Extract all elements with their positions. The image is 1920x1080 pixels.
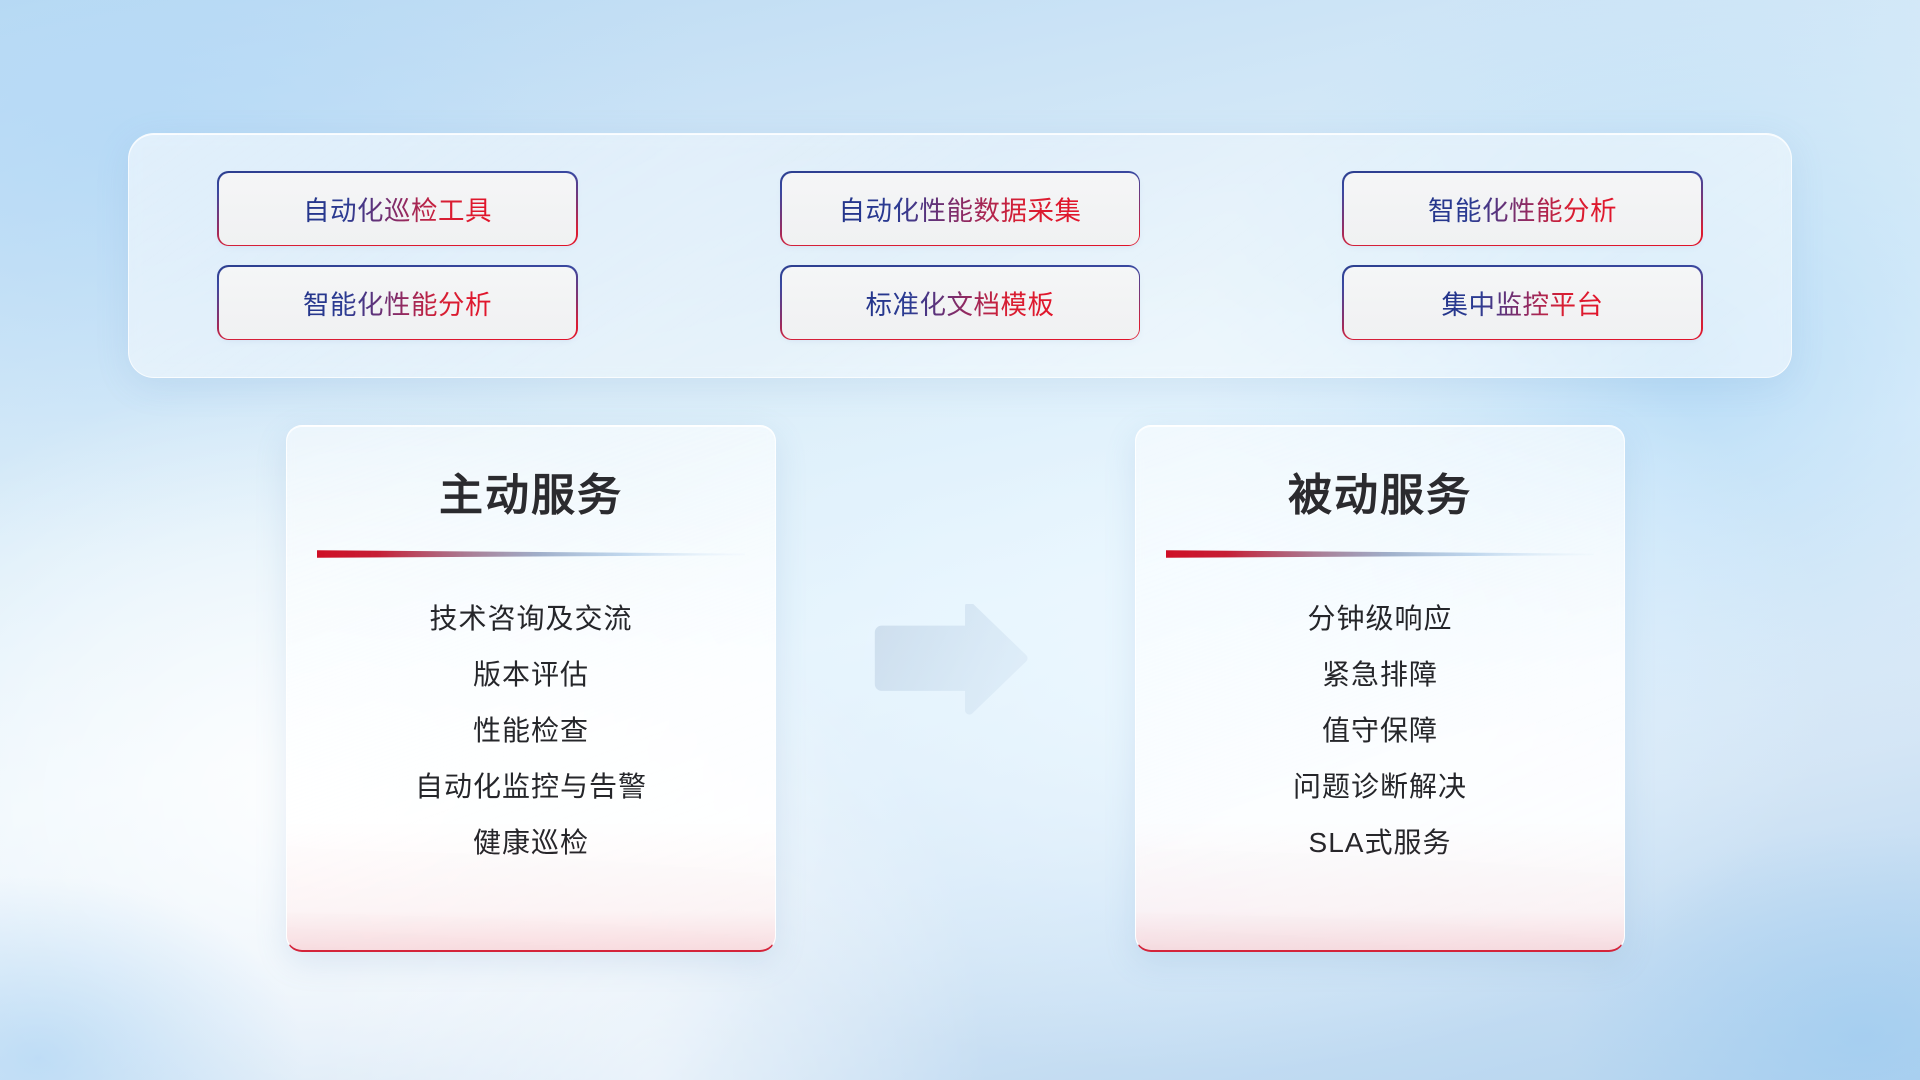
tag-label: 集中监控平台: [1442, 283, 1604, 322]
list-item: 值守保障: [1136, 703, 1624, 759]
tag-label: 自动化巡检工具: [303, 189, 492, 228]
list-item: SLA式服务: [1136, 815, 1624, 871]
tag-intelligent-performance-analysis-bottom[interactable]: 智能化性能分析: [219, 267, 576, 339]
card-divider-reactive: [1166, 549, 1594, 559]
list-item: 紧急排障: [1136, 647, 1624, 703]
diagram-stage: 自动化巡检工具 自动化性能数据采集 智能化性能分析 智能化性能分析 标准化文档模…: [0, 0, 1920, 1080]
card-title-proactive: 主动服务: [287, 459, 775, 523]
tag-standardized-document-template[interactable]: 标准化文档模板: [782, 267, 1139, 339]
arrow-right-icon: [869, 604, 1034, 724]
card-title-reactive: 被动服务: [1136, 459, 1624, 523]
service-card-reactive: 被动服务 分钟级响应 紧急排障 值守保障: [1135, 425, 1625, 952]
list-item: 分钟级响应: [1136, 591, 1624, 647]
list-item: 技术咨询及交流: [287, 591, 775, 647]
list-item: 问题诊断解决: [1136, 759, 1624, 815]
list-item: 版本评估: [287, 647, 775, 703]
tag-intelligent-performance-analysis-top[interactable]: 智能化性能分析: [1344, 173, 1701, 245]
tag-label: 智能化性能分析: [1428, 189, 1617, 228]
tag-automation-inspection-tool[interactable]: 自动化巡检工具: [219, 173, 576, 245]
capability-tag-panel: 自动化巡检工具 自动化性能数据采集 智能化性能分析 智能化性能分析 标准化文档模…: [128, 133, 1792, 378]
tag-label: 标准化文档模板: [866, 283, 1055, 322]
list-item: 性能检查: [287, 703, 775, 759]
tag-automation-performance-data-collection[interactable]: 自动化性能数据采集: [782, 173, 1139, 245]
list-item: 自动化监控与告警: [287, 759, 775, 815]
card-divider-proactive: [317, 549, 745, 559]
tag-centralized-monitoring-platform[interactable]: 集中监控平台: [1344, 267, 1701, 339]
list-item: 健康巡检: [287, 815, 775, 871]
service-list-proactive: 技术咨询及交流 版本评估 性能检查 自动化监控与告警 健康巡检: [287, 591, 775, 871]
tag-row-2: 智能化性能分析 标准化文档模板 集中监控平台: [219, 267, 1701, 339]
tag-label: 智能化性能分析: [303, 283, 492, 322]
tag-row-1: 自动化巡检工具 自动化性能数据采集 智能化性能分析: [219, 173, 1701, 245]
tag-label: 自动化性能数据采集: [839, 189, 1082, 228]
service-list-reactive: 分钟级响应 紧急排障 值守保障 问题诊断解决 SLA式服务: [1136, 591, 1624, 871]
service-card-proactive: 主动服务 技术咨询及交流 版本评估 性能检查: [286, 425, 776, 952]
